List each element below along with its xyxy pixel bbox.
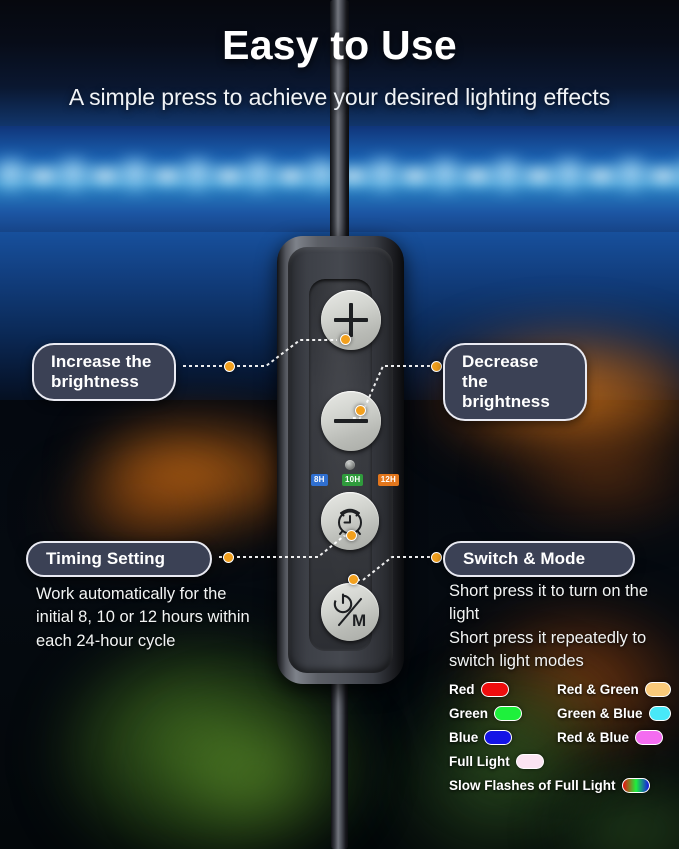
callout-decrease-brightness: Decrease the brightness (443, 343, 587, 421)
timer-badge-12h: 12H (378, 474, 399, 486)
color-swatch-blue (484, 730, 512, 745)
switch-description-line-2: Short press it repeatedly to switch ligh… (449, 627, 674, 674)
color-swatch-green (494, 706, 522, 721)
switch-description-line-1: Short press it to turn on the light (449, 580, 674, 627)
timer-badge-group: 8H 10H 12H (311, 474, 399, 486)
light-mode-legend: Red Red & Green Green Green & Blue Blue (449, 682, 677, 802)
color-swatch-slow-flash (622, 778, 650, 793)
timing-setting-button[interactable] (321, 492, 379, 550)
increase-brightness-button[interactable] (321, 290, 381, 350)
connector-dot-switch-right (431, 552, 442, 563)
page-title: Easy to Use (0, 22, 679, 69)
timing-description: Work automatically for the initial 8, 10… (36, 583, 266, 653)
infographic-canvas: Easy to Use A simple press to achieve yo… (0, 0, 679, 849)
legend-item-red-green: Red & Green (557, 682, 677, 697)
legend-row: Red Red & Green (449, 682, 677, 697)
power-mode-icon: M (328, 590, 372, 634)
timer-status-led (345, 460, 355, 470)
connector-dot-decrease-left (355, 405, 366, 416)
color-swatch-red-blue (635, 730, 663, 745)
decrease-brightness-button[interactable] (321, 391, 381, 451)
color-swatch-full-light (516, 754, 544, 769)
legend-label: Red & Blue (557, 730, 629, 745)
legend-item-red-blue: Red & Blue (557, 730, 677, 745)
color-swatch-red-green (645, 682, 671, 697)
color-swatch-red (481, 682, 509, 697)
switch-description: Short press it to turn on the light Shor… (449, 580, 674, 674)
connector-dot-timing-left (223, 552, 234, 563)
blurred-fish-left-2 (50, 470, 230, 550)
legend-item-blue: Blue (449, 730, 557, 745)
legend-row-slow-flash: Slow Flashes of Full Light (449, 778, 677, 793)
legend-row: Green Green & Blue (449, 706, 677, 721)
legend-row-full-light: Full Light (449, 754, 677, 769)
legend-label: Green & Blue (557, 706, 643, 721)
legend-item-red: Red (449, 682, 557, 697)
legend-item-green: Green (449, 706, 557, 721)
mode-letter: M (352, 611, 366, 630)
legend-label: Full Light (449, 754, 510, 769)
legend-label: Green (449, 706, 488, 721)
legend-item-green-blue: Green & Blue (557, 706, 677, 721)
connector-dot-increase-right (340, 334, 351, 345)
legend-label: Red (449, 682, 475, 697)
connector-dot-decrease-right (431, 361, 442, 372)
callout-timing-setting: Timing Setting (26, 541, 212, 577)
legend-label: Red & Green (557, 682, 639, 697)
minus-icon (334, 419, 368, 423)
callout-increase-brightness: Increase the brightness (32, 343, 176, 401)
callout-switch-mode: Switch & Mode (443, 541, 635, 577)
timer-badge-10h: 10H (342, 474, 363, 486)
connector-dot-increase-left (224, 361, 235, 372)
page-subtitle: A simple press to achieve your desired l… (0, 84, 679, 111)
switch-mode-button[interactable]: M (321, 583, 379, 641)
cable-bottom (331, 678, 348, 849)
timer-badge-8h: 8H (311, 474, 328, 486)
connector-dot-timing-right (346, 530, 357, 541)
color-swatch-green-blue (649, 706, 671, 721)
legend-label: Slow Flashes of Full Light (449, 778, 616, 793)
legend-label: Blue (449, 730, 478, 745)
plus-icon (334, 303, 368, 337)
legend-row: Blue Red & Blue (449, 730, 677, 745)
connector-dot-switch-left (348, 574, 359, 585)
